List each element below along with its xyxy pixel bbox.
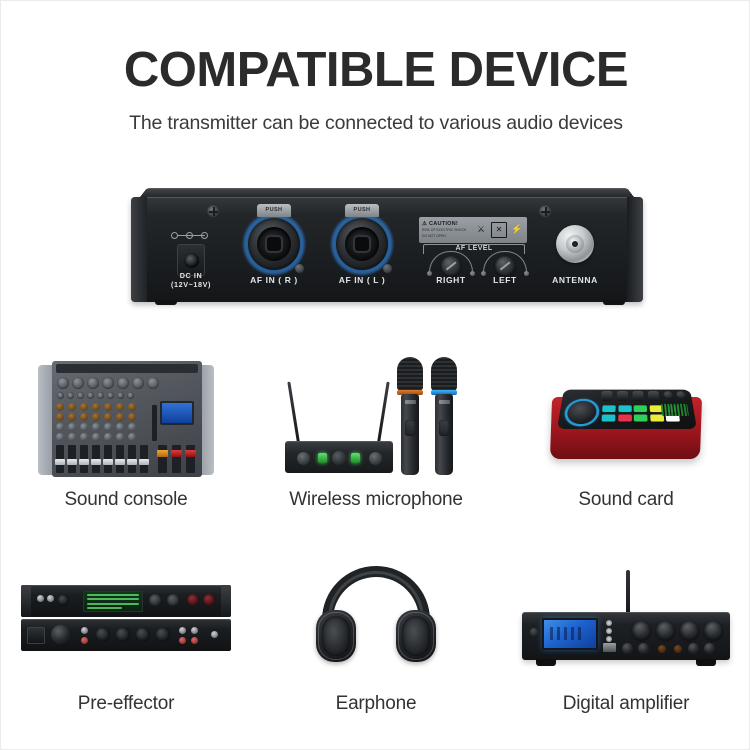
console-master-fader-3 — [186, 445, 195, 473]
bnc-connector-icon — [556, 225, 594, 263]
sound-card-illustration — [547, 369, 705, 477]
jack-pin-left — [355, 237, 369, 251]
transmitter-foot-left — [155, 300, 177, 305]
receiver-antenna-left — [287, 382, 300, 444]
console-top-strip — [56, 364, 198, 373]
pre-effector-icon — [1, 559, 251, 681]
transmitter-rear-panel-image: DC IN (12V~18V) PUSH AF IN ( R ) PUSH AF… — [119, 179, 649, 324]
device-card-pre-effector[interactable]: Pre-effector — [1, 559, 251, 715]
af-in-right-jack: PUSH — [243, 213, 305, 275]
console-eq-section — [56, 403, 148, 443]
pre-effector-display — [83, 591, 143, 612]
dc-in-label-line2: (12V~18V) — [159, 280, 223, 289]
push-latch-left: PUSH — [345, 204, 379, 217]
sound-card-led-meter — [661, 404, 689, 416]
amplifier-volume-knob-1 — [632, 621, 651, 640]
sound-card-jog-wheel — [566, 401, 597, 424]
caution-title-text: CAUTION! — [429, 221, 458, 227]
amplifier-volume-knob-3 — [680, 621, 699, 640]
caution-label: ⚠ CAUTION! RISK OF ELECTRIC SHOCK DO NOT… — [419, 217, 527, 243]
af-level-left-knob — [483, 251, 527, 273]
jack-pin-right — [267, 237, 281, 251]
device-label-digital-amplifier: Digital amplifier — [563, 693, 689, 715]
right-knob-body — [441, 256, 461, 276]
sound-card-knob-row — [601, 391, 660, 401]
caution-icon-group: ⚔ ✕ ⚡ — [474, 222, 524, 238]
digital-amplifier-icon — [501, 559, 750, 681]
amplifier-indicator-1 — [606, 620, 612, 626]
device-card-earphone[interactable]: Earphone — [251, 559, 501, 715]
headphones-illustration — [314, 566, 438, 674]
device-row-2: Pre-effector — [1, 559, 750, 715]
headphone-earcup-left — [316, 610, 356, 662]
amplifier-antenna — [626, 570, 630, 616]
console-master-fader-1 — [158, 445, 167, 473]
panel-screw-left — [207, 205, 220, 218]
wireless-microphone-illustration — [281, 351, 471, 477]
receiver-center-control — [332, 451, 346, 465]
amplifier-mic-jack-2 — [674, 645, 682, 653]
sound-card-buttons — [663, 391, 686, 398]
console-surface — [52, 361, 202, 477]
caution-body-line2: DO NOT OPEN — [422, 234, 472, 239]
pre-effector-illustration — [21, 585, 231, 655]
receiver-antenna-right — [377, 382, 390, 444]
earphone-icon — [251, 559, 501, 681]
device-card-sound-console[interactable]: Sound console — [1, 347, 251, 511]
af-in-left-label: AF IN ( L ) — [317, 275, 407, 286]
af-level-right-knob — [429, 251, 473, 273]
console-level-meter — [152, 405, 157, 441]
pre-effector-power-inlet — [27, 627, 45, 644]
amplifier-small-knob-4 — [704, 643, 715, 654]
handheld-mic-2 — [431, 357, 457, 475]
amplifier-foot-right — [696, 659, 716, 666]
infographic-page: COMPATIBLE DEVICE The transmitter can be… — [0, 0, 750, 750]
amplifier-indicator-2 — [606, 628, 612, 634]
amplifier-small-knob-3 — [688, 643, 699, 654]
no-disassembly-icon: ✕ — [491, 222, 507, 238]
transmitter-right-bevel — [627, 197, 643, 302]
device-card-sound-card[interactable]: Sound card — [501, 347, 750, 511]
page-title: COMPATIBLE DEVICE — [1, 45, 750, 96]
amplifier-foot-left — [536, 659, 556, 666]
page-subtitle: The transmitter can be connected to vari… — [1, 112, 750, 135]
device-row-1: Sound console — [1, 347, 750, 511]
amplifier-volume-knob-4 — [704, 621, 723, 640]
receiver-led-right — [351, 453, 360, 463]
jack-screw-left — [383, 264, 392, 273]
warning-triangle-icon: ⚠ — [422, 221, 427, 227]
no-tools-icon: ⚔ — [474, 222, 488, 236]
console-trim-knob-row — [57, 392, 134, 399]
amplifier-mic-jack-1 — [658, 645, 666, 653]
antenna-label: ANTENNA — [539, 275, 611, 286]
mic-body-1 — [401, 394, 419, 475]
jack-screw-right — [295, 264, 304, 273]
digital-amplifier-illustration — [522, 572, 730, 668]
left-knob-label: LEFT — [469, 275, 541, 286]
mic-switch-2 — [439, 420, 449, 436]
sound-console-illustration — [38, 361, 214, 477]
amplifier-display — [542, 618, 598, 650]
mic-switch-1 — [405, 420, 415, 436]
receiver-dial-left — [297, 452, 310, 465]
sound-card-icon — [501, 347, 750, 477]
left-knob-body — [495, 256, 515, 276]
console-master-fader-2 — [172, 445, 181, 473]
header: COMPATIBLE DEVICE The transmitter can be… — [1, 1, 750, 135]
transmitter-left-bevel — [131, 197, 147, 302]
dc-in-port — [163, 231, 219, 276]
pre-effector-rear-panel — [21, 619, 231, 651]
left-knob-arc — [483, 251, 527, 273]
console-gain-knob-row — [57, 377, 159, 389]
amplifier-small-knob-1 — [622, 643, 633, 654]
caution-text-block: ⚠ CAUTION! RISK OF ELECTRIC SHOCK DO NOT… — [422, 221, 472, 238]
receiver-dial-right — [369, 452, 382, 465]
panel-screw-right — [539, 205, 552, 218]
receiver-led-left — [318, 453, 327, 463]
af-in-right-label: AF IN ( R ) — [229, 275, 319, 286]
dc-polarity-icon — [169, 231, 213, 240]
af-in-left-jack: PUSH — [331, 213, 393, 275]
sound-console-icon — [1, 347, 251, 477]
amplifier-indicator-3 — [606, 636, 612, 642]
mic-logo-1 — [405, 400, 416, 404]
transmitter-foot-right — [603, 300, 625, 305]
device-label-sound-console: Sound console — [64, 489, 187, 511]
device-card-wireless-microphone[interactable]: Wireless microphone — [251, 347, 501, 511]
pre-effector-rear-dial — [51, 625, 70, 644]
mic-grille-2 — [431, 357, 457, 391]
push-latch-right: PUSH — [257, 204, 291, 217]
amplifier-small-knob-2 — [638, 643, 649, 654]
receiver-unit — [285, 441, 393, 473]
device-label-pre-effector: Pre-effector — [78, 693, 175, 715]
right-knob-arc — [429, 251, 473, 273]
dc-in-label-line1: DC IN — [159, 271, 223, 280]
caution-title: ⚠ CAUTION! — [422, 221, 472, 227]
pre-effector-front-panel — [21, 585, 231, 617]
no-liquid-icon: ⚡ — [510, 222, 524, 236]
device-label-earphone: Earphone — [336, 693, 417, 715]
sound-card-control-surface — [557, 390, 697, 429]
mic-grille-1 — [397, 357, 423, 391]
mic-body-2 — [435, 394, 453, 475]
compatible-device-grid: Sound console — [1, 347, 750, 715]
antenna-connector — [547, 225, 603, 263]
wireless-microphone-icon — [251, 347, 501, 477]
mic-logo-2 — [439, 400, 450, 404]
device-label-wireless-microphone: Wireless microphone — [289, 489, 463, 511]
console-display — [160, 401, 194, 425]
amplifier-volume-knob-2 — [656, 621, 675, 640]
amplifier-usb-port — [603, 643, 616, 652]
amplifier-headphone-jack — [530, 628, 538, 636]
headphone-earcup-right — [396, 610, 436, 662]
caution-body-line1: RISK OF ELECTRIC SHOCK — [422, 228, 472, 233]
device-card-digital-amplifier[interactable]: Digital amplifier — [501, 559, 750, 715]
handheld-mic-1 — [397, 357, 423, 475]
console-fader-section — [56, 445, 148, 475]
device-label-sound-card: Sound card — [578, 489, 673, 511]
